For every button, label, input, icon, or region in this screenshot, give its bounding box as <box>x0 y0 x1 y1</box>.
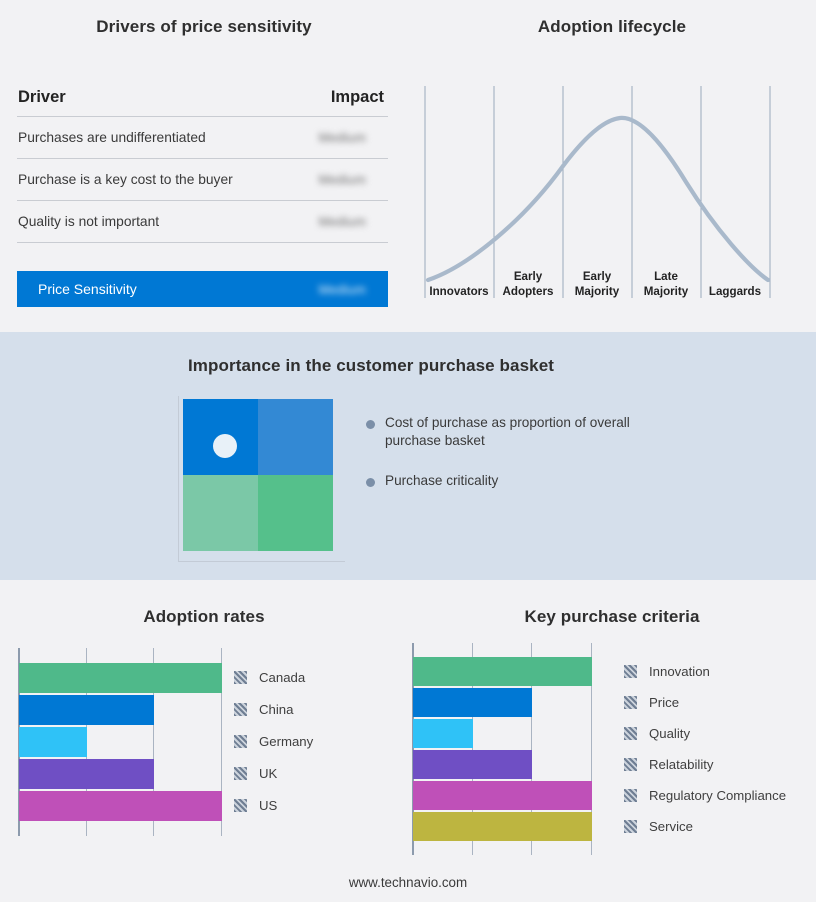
table-row: Purchase is a key cost to the buyer Medi… <box>17 159 388 201</box>
panel-adoption-rates: Adoption rates CanadaChinaGermanyUKUS <box>0 580 408 902</box>
matrix-axis-horizontal <box>178 561 345 562</box>
panel-title-key-criteria: Key purchase criteria <box>408 607 816 627</box>
matrix-position-marker <box>213 434 237 458</box>
lifecycle-label-early-majority-line2: Majority <box>575 285 620 298</box>
legend-item: Germany <box>234 734 313 749</box>
quadrant-bottom-right <box>258 475 333 551</box>
bar <box>413 812 592 841</box>
hatched-swatch-icon <box>624 789 637 802</box>
legend-item: US <box>234 798 277 813</box>
bar <box>19 695 154 725</box>
lifecycle-gridlines <box>425 86 770 298</box>
legend-item: Cost of purchase as proportion of overal… <box>366 414 666 450</box>
panel-key-purchase-criteria: Key purchase criteria InnovationPriceQua… <box>408 580 816 902</box>
driver-name: Purchases are undifferentiated <box>18 130 206 145</box>
hatched-swatch-icon <box>234 767 247 780</box>
impact-value: Medium <box>319 172 384 187</box>
hatched-swatch-icon <box>234 799 247 812</box>
legend-item: Relatability <box>624 757 714 772</box>
legend-item: China <box>234 702 293 717</box>
price-sensitivity-summary-row: Price Sensitivity Medium <box>17 271 388 307</box>
footer-url: www.technavio.com <box>0 875 816 890</box>
lifecycle-label-innovators: Innovators <box>429 285 488 298</box>
panel-drivers-of-price-sensitivity: Drivers of price sensitivity Driver Impa… <box>0 0 408 332</box>
bullet-icon <box>366 420 375 429</box>
driver-name: Quality is not important <box>18 214 159 229</box>
legend-item: Innovation <box>624 664 710 679</box>
impact-value: Medium <box>319 130 384 145</box>
bar <box>413 781 592 810</box>
summary-label: Price Sensitivity <box>38 281 137 297</box>
quadrant-top-right <box>258 399 333 475</box>
legend-item: Purchase criticality <box>366 472 666 490</box>
hatched-swatch-icon <box>624 820 637 833</box>
hatched-swatch-icon <box>624 665 637 678</box>
hatched-swatch-icon <box>624 758 637 771</box>
drivers-table: Driver Impact Purchases are undifferenti… <box>17 88 388 243</box>
summary-impact-value: Medium <box>319 282 366 297</box>
panel-title-drivers: Drivers of price sensitivity <box>0 17 408 37</box>
legend-item: Price <box>624 695 679 710</box>
adoption-rates-chart: CanadaChinaGermanyUKUS <box>18 648 398 853</box>
legend-label: Innovation <box>649 664 710 679</box>
legend-item: Canada <box>234 670 305 685</box>
bar <box>413 657 592 686</box>
hatched-swatch-icon <box>624 727 637 740</box>
hatched-swatch-icon <box>624 696 637 709</box>
bar <box>19 727 87 757</box>
legend-label: Purchase criticality <box>385 472 498 490</box>
table-row: Quality is not important Medium <box>17 201 388 243</box>
key-purchase-criteria-chart: InnovationPriceQualityRelatabilityRegula… <box>412 643 812 869</box>
column-header-impact: Impact <box>331 88 384 107</box>
impact-value: Medium <box>319 214 384 229</box>
legend-item: Regulatory Compliance <box>624 788 786 803</box>
legend-label: Price <box>649 695 679 710</box>
legend-label: Cost of purchase as proportion of overal… <box>385 414 637 450</box>
bar <box>413 719 473 748</box>
hatched-swatch-icon <box>234 671 247 684</box>
panel-importance-purchase-basket: Importance in the customer purchase bask… <box>0 332 816 580</box>
panel-adoption-lifecycle: Adoption lifecycle Innovators Early Adop… <box>408 0 816 332</box>
bullet-icon <box>366 478 375 487</box>
bar <box>19 759 154 789</box>
quadrant-bottom-left <box>183 475 258 551</box>
panel-title-basket: Importance in the customer purchase bask… <box>131 356 611 376</box>
lifecycle-label-early-adopters-line1: Early <box>514 270 543 283</box>
adoption-bell-curve <box>428 118 768 280</box>
chart-legend: InnovationPriceQualityRelatabilityRegula… <box>624 643 816 855</box>
legend-item: Quality <box>624 726 690 741</box>
infographic-page: Drivers of price sensitivity Driver Impa… <box>0 0 816 902</box>
lifecycle-label-late-majority-line1: Late <box>654 270 678 283</box>
legend-item: Service <box>624 819 693 834</box>
purchase-basket-matrix <box>170 396 350 566</box>
table-header-row: Driver Impact <box>17 88 388 117</box>
lifecycle-label-early-adopters-line2: Adopters <box>503 285 554 298</box>
plot-area <box>412 643 591 855</box>
bar <box>19 663 222 693</box>
lifecycle-label-early-majority-line1: Early <box>583 270 612 283</box>
panel-title-lifecycle: Adoption lifecycle <box>408 17 816 37</box>
plot-area <box>18 648 221 836</box>
chart-legend: CanadaChinaGermanyUKUS <box>234 648 434 836</box>
legend-label: Canada <box>259 670 305 685</box>
legend-label: US <box>259 798 277 813</box>
legend-label: Relatability <box>649 757 714 772</box>
matrix-axis-vertical <box>178 396 179 562</box>
bar <box>413 750 532 779</box>
legend-label: China <box>259 702 293 717</box>
panel-title-adoption-rates: Adoption rates <box>0 607 408 627</box>
hatched-swatch-icon <box>234 703 247 716</box>
lifecycle-label-laggards: Laggards <box>709 285 761 298</box>
bar <box>413 688 532 717</box>
table-row: Purchases are undifferentiated Medium <box>17 117 388 159</box>
legend-label: Germany <box>259 734 313 749</box>
legend-label: Quality <box>649 726 690 741</box>
column-header-driver: Driver <box>18 88 66 107</box>
legend-item: UK <box>234 766 277 781</box>
hatched-swatch-icon <box>234 735 247 748</box>
lifecycle-label-late-majority-line2: Majority <box>644 285 689 298</box>
legend-label: UK <box>259 766 277 781</box>
bar <box>19 791 222 821</box>
matrix-quadrants <box>183 399 333 551</box>
adoption-lifecycle-chart: Innovators Early Adopters Early Majority… <box>424 70 800 310</box>
driver-name: Purchase is a key cost to the buyer <box>18 172 233 187</box>
legend-label: Regulatory Compliance <box>649 788 786 803</box>
purchase-basket-legend: Cost of purchase as proportion of overal… <box>366 414 666 512</box>
legend-label: Service <box>649 819 693 834</box>
